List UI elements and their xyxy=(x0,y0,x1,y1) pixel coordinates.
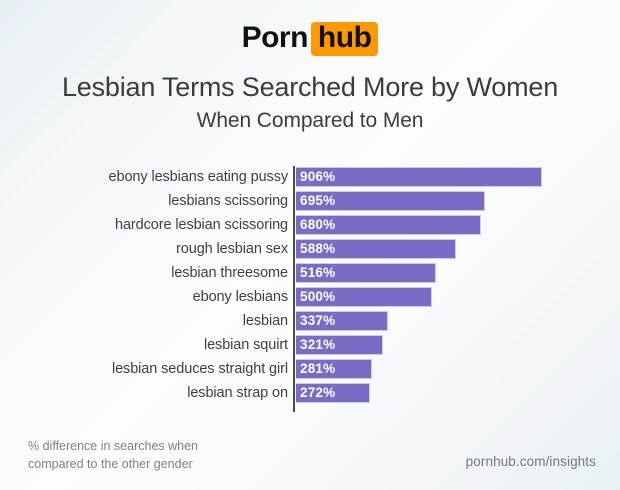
bar-value-label: 272% xyxy=(300,385,335,400)
bar-value-label: 281% xyxy=(300,361,335,376)
bar-row: ebony lesbians500% xyxy=(0,286,620,310)
bar-category-label: lesbian strap on xyxy=(48,385,288,401)
bar-value-label: 500% xyxy=(300,289,335,304)
page-subtitle: When Compared to Men xyxy=(0,109,620,133)
bar-row: lesbian337% xyxy=(0,310,620,334)
logo-wordmark-accent: hub xyxy=(311,22,378,56)
bar-row: ebony lesbians eating pussy906% xyxy=(0,166,620,190)
bar-category-label: rough lesbian sex xyxy=(48,241,288,257)
bar-row: lesbian strap on272% xyxy=(0,382,620,406)
bar-row: lesbian seduces straight girl281% xyxy=(0,358,620,382)
bar-row: lesbian threesome516% xyxy=(0,262,620,286)
footnote-line-2: compared to the other gender xyxy=(28,455,198,473)
bar-value-label: 337% xyxy=(300,313,335,328)
bar-category-label: lesbian threesome xyxy=(48,265,288,281)
bar-row: lesbian squirt321% xyxy=(0,334,620,358)
infographic-canvas: Pornhub Lesbian Terms Searched More by W… xyxy=(0,0,620,490)
bar-value-label: 588% xyxy=(300,241,335,256)
bar-category-label: ebony lesbians xyxy=(48,289,288,305)
bar-row: hardcore lesbian scissoring680% xyxy=(0,214,620,238)
bar-value-label: 321% xyxy=(300,337,335,352)
bar-rows-container: ebony lesbians eating pussy906%lesbians … xyxy=(0,166,620,406)
bar-category-label: lesbians scissoring xyxy=(48,193,288,209)
bar-value-label: 906% xyxy=(300,169,335,184)
source-url: pornhub.com/insights xyxy=(466,454,596,469)
bar-value-label: 695% xyxy=(300,193,335,208)
footnote-line-1: % difference in searches when xyxy=(28,437,198,455)
logo-text: Pornhub xyxy=(242,22,379,56)
bar-category-label: hardcore lesbian scissoring xyxy=(48,217,288,233)
bar-category-label: lesbian seduces straight girl xyxy=(48,361,288,377)
bar-category-label: lesbian squirt xyxy=(48,337,288,353)
logo-wordmark-primary: Porn xyxy=(242,21,308,54)
brand-logo: Pornhub xyxy=(0,22,620,56)
bar-row: lesbians scissoring695% xyxy=(0,190,620,214)
bar-category-label: lesbian xyxy=(48,313,288,329)
page-title: Lesbian Terms Searched More by Women xyxy=(0,72,620,103)
chart-footnote: % difference in searches when compared t… xyxy=(28,437,198,473)
bar-chart: ebony lesbians eating pussy906%lesbians … xyxy=(0,166,620,414)
bar-value-label: 680% xyxy=(300,217,335,232)
bar-value-label: 516% xyxy=(300,265,335,280)
bar-row: rough lesbian sex588% xyxy=(0,238,620,262)
bar-category-label: ebony lesbians eating pussy xyxy=(48,169,288,185)
